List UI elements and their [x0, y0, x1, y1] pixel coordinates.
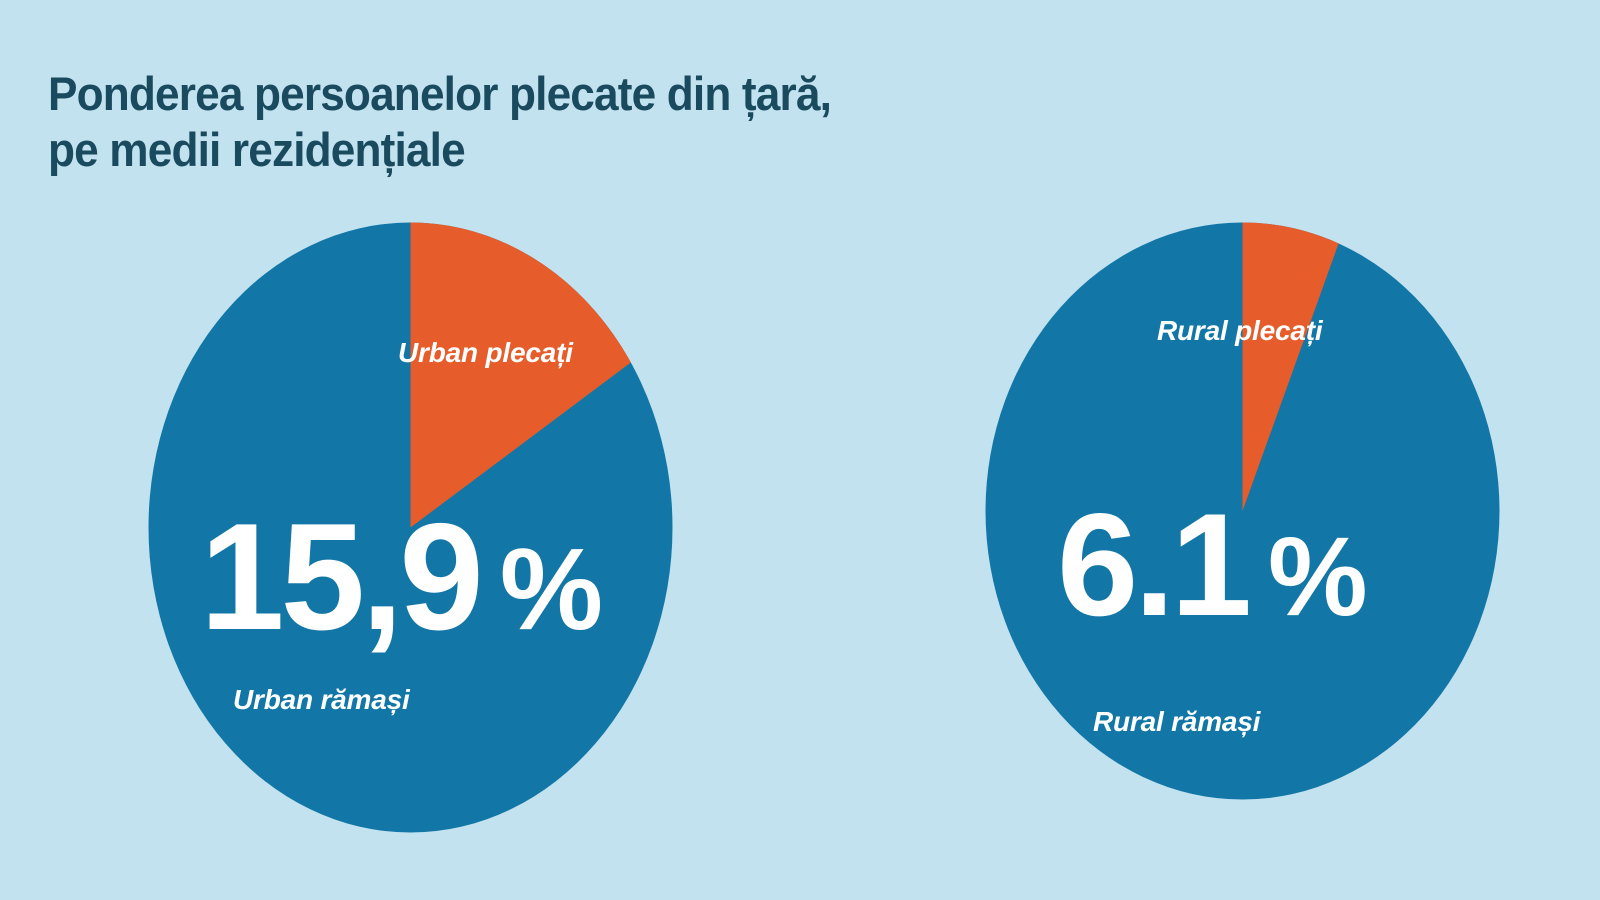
pie-chart-rural-svg — [985, 222, 1500, 800]
pie-chart-urban-svg — [148, 222, 673, 833]
page-title: Ponderea persoanelor plecate din țară, p… — [48, 66, 1048, 178]
title-line-1: Ponderea persoanelor plecate din țară, — [48, 66, 988, 122]
pie-chart-urban: Urban plecați 15,9 % Urban rămași — [148, 222, 673, 833]
pie-chart-rural: Rural plecați 6.1 % Rural rămași — [985, 222, 1500, 800]
infographic-canvas: Ponderea persoanelor plecate din țară, p… — [0, 0, 1600, 900]
title-line-2: pe medii rezidențiale — [48, 122, 988, 178]
